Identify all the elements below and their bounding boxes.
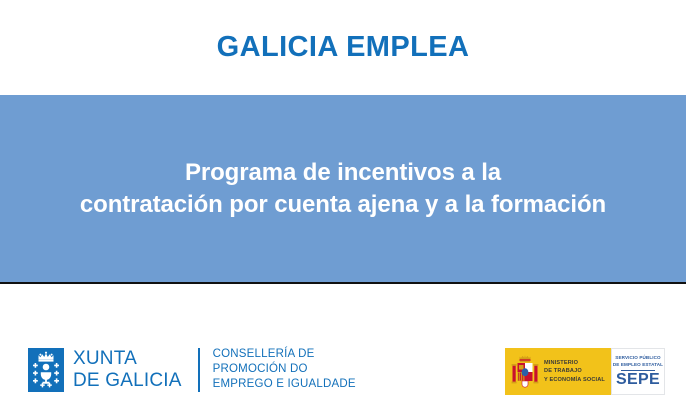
- spain-coat-of-arms-icon: [511, 354, 539, 390]
- sepe-full-name-line-2: DE EMPLEO ESTATAL: [613, 362, 663, 369]
- ministerio-line-1: MINISTERIO: [544, 359, 605, 367]
- footer-logos: XUNTA DE GALICIA CONSELLERÍA DE PROMOCIÓ…: [0, 286, 686, 410]
- sepe-full-name: SERVICIO PÚBLICO DE EMPLEO ESTATAL: [613, 355, 663, 368]
- ministerio-line-3: Y ECONOMÍA SOCIAL: [544, 376, 605, 384]
- ministerio-wordmark: MINISTERIO DE TRABAJO Y ECONOMÍA SOCIAL: [544, 359, 605, 383]
- sepe-logo: SERVICIO PÚBLICO DE EMPLEO ESTATAL SEPE: [611, 348, 665, 395]
- program-banner-line-2: contratación por cuenta ajena y a la for…: [80, 189, 606, 221]
- sepe-acronym: SEPE: [616, 372, 660, 388]
- xunta-wordmark: XUNTA DE GALICIA: [73, 348, 182, 391]
- page-title: GALICIA EMPLEA: [217, 31, 470, 64]
- logo-divider: [198, 348, 200, 392]
- conselleria-line-2: PROMOCIÓN DO: [213, 362, 356, 377]
- xunta-wordmark-line-2: DE GALICIA: [73, 370, 182, 391]
- ministerio-line-2: DE TRABAJO: [544, 367, 605, 375]
- conselleria-line-3: EMPREGO E IGUALDADE: [213, 377, 356, 392]
- conselleria-line-1: CONSELLERÍA DE: [213, 347, 356, 362]
- conselleria-block: CONSELLERÍA DE PROMOCIÓN DO EMPREGO E IG…: [213, 347, 356, 393]
- header-band: GALICIA EMPLEA: [0, 0, 686, 95]
- program-banner-text: Programa de incentivos a la contratación…: [66, 157, 620, 220]
- xunta-wordmark-line-1: XUNTA: [73, 348, 182, 369]
- ministerio-de-trabajo-logo: MINISTERIO DE TRABAJO Y ECONOMÍA SOCIAL: [505, 348, 611, 395]
- xunta-de-galicia-logo: XUNTA DE GALICIA CONSELLERÍA DE PROMOCIÓ…: [28, 347, 356, 393]
- program-banner: Programa de incentivos a la contratación…: [0, 95, 686, 284]
- sepe-full-name-line-1: SERVICIO PÚBLICO: [613, 355, 663, 362]
- xunta-coat-of-arms-icon: [28, 348, 64, 392]
- poster-page: GALICIA EMPLEA Programa de incentivos a …: [0, 0, 686, 410]
- program-banner-line-1: Programa de incentivos a la: [80, 157, 606, 189]
